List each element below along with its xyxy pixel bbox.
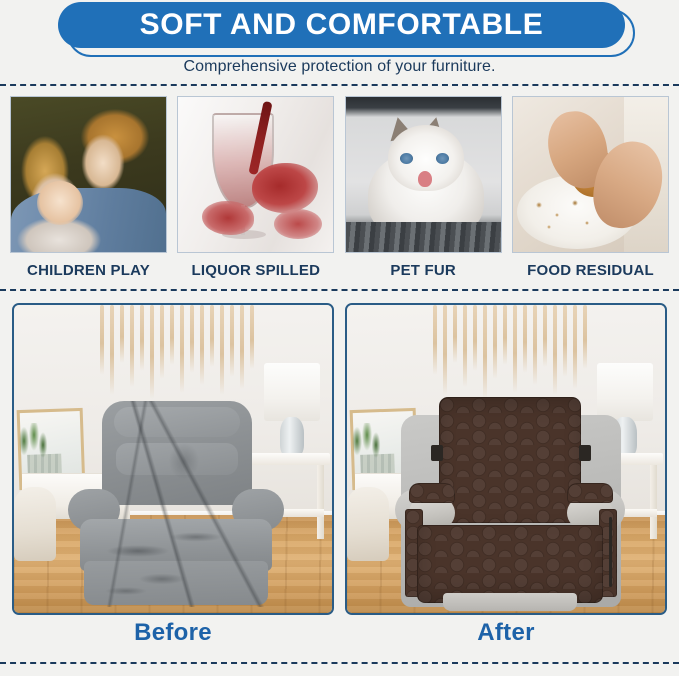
divider-top: [0, 84, 679, 86]
cat-eye-left: [400, 153, 413, 164]
after-label: After: [477, 619, 535, 647]
divider-middle: [0, 289, 679, 291]
use-case-grid: CHILDREN PLAY LIQUOR SPILLED: [0, 96, 679, 282]
page-title: SOFT AND COMFORTABLE: [140, 10, 544, 40]
before-scene: [14, 305, 332, 613]
photo-liquor-spilled: [177, 96, 334, 253]
cat-tongue: [418, 171, 432, 187]
cat-image: [346, 97, 501, 252]
before-label: Before: [134, 619, 212, 647]
use-case-item-pet-fur: PET FUR: [345, 96, 502, 282]
after-image-frame: [345, 303, 667, 615]
food-crumbs-image: [513, 97, 668, 252]
comparison-panel-after: After: [345, 303, 667, 653]
quilted-cover-backrest: [439, 397, 581, 523]
wine-splash-tertiary: [274, 209, 322, 239]
use-case-item-children-play: CHILDREN PLAY: [10, 96, 167, 282]
before-after-comparison: Before: [0, 303, 679, 653]
quilted-cover-armrest-right: [567, 483, 613, 503]
page-subtitle: Comprehensive protection of your furnitu…: [0, 58, 679, 76]
quilted-cover-seat: [417, 525, 603, 603]
side-stool: [14, 487, 56, 561]
comparison-panel-before: Before: [12, 303, 334, 653]
children-playing-image: [11, 97, 166, 252]
cat-eye-right: [436, 153, 449, 164]
wine-spill-image: [178, 97, 333, 252]
banner-pill: SOFT AND COMFORTABLE: [58, 2, 625, 48]
wine-splash-primary: [252, 163, 318, 213]
recliner-base: [84, 561, 268, 605]
recliner-headrest: [114, 407, 240, 437]
recliner-footrest: [443, 593, 577, 611]
covered-recliner: [395, 397, 627, 609]
use-case-label: LIQUOR SPILLED: [192, 262, 321, 279]
macrame-wall-hanging: [431, 305, 589, 401]
before-image-frame: [12, 303, 334, 615]
photo-pet-fur: [345, 96, 502, 253]
cat-blanket: [346, 222, 501, 252]
use-case-item-food-residual: FOOD RESIDUAL: [512, 96, 669, 282]
use-case-label: FOOD RESIDUAL: [527, 262, 654, 279]
side-stool: [347, 487, 389, 561]
cover-strap-left: [431, 445, 443, 461]
use-case-item-liquor-spilled: LIQUOR SPILLED: [177, 96, 334, 282]
quilted-cover-armrest-left: [409, 483, 455, 503]
macrame-wall-hanging: [98, 305, 256, 401]
side-table-leg-right: [317, 465, 324, 539]
photo-food-residual: [512, 96, 669, 253]
header: SOFT AND COMFORTABLE: [0, 0, 679, 58]
photo-children-play: [10, 96, 167, 253]
use-case-label: PET FUR: [390, 262, 456, 279]
after-scene: [347, 305, 665, 613]
side-table-leg-right: [650, 465, 657, 539]
dirty-grey-recliner: [66, 401, 286, 607]
use-case-label: CHILDREN PLAY: [27, 262, 150, 279]
wine-splash-secondary: [202, 201, 254, 235]
cover-tie-strap: [609, 517, 612, 587]
recliner-lumbar-cushion: [116, 443, 238, 475]
divider-bottom: [0, 662, 679, 664]
cover-strap-right: [579, 445, 591, 461]
